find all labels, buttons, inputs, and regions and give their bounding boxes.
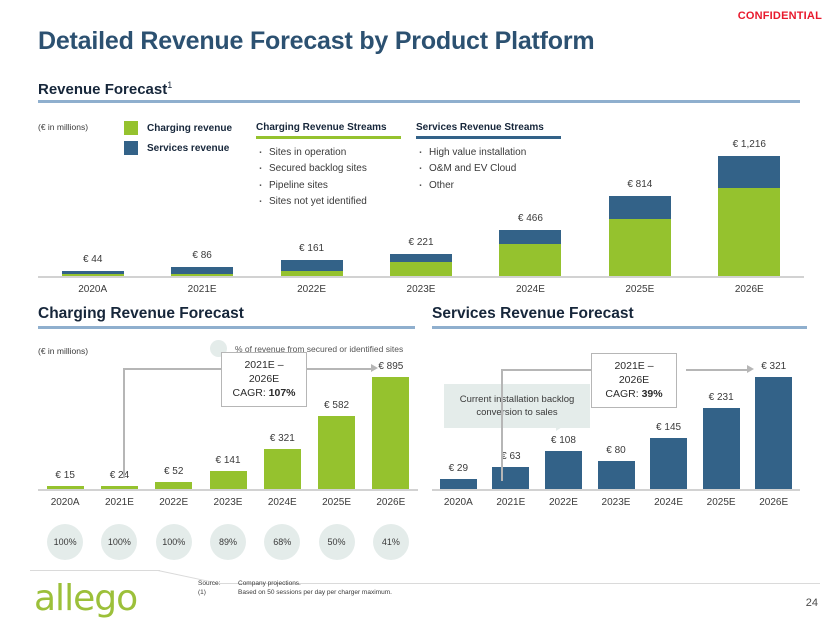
bar-segment-charging bbox=[718, 188, 780, 276]
note-tail-icon bbox=[556, 415, 580, 431]
cagr-leader-vertical bbox=[123, 368, 125, 478]
slide: CONFIDENTIAL Detailed Revenue Forecast b… bbox=[0, 0, 840, 630]
bar-total-label: € 161 bbox=[267, 243, 357, 254]
category-label: 2026E bbox=[356, 497, 426, 508]
category-label: 2025E bbox=[595, 284, 685, 295]
bar bbox=[372, 377, 409, 489]
chart-axis-line bbox=[38, 489, 418, 491]
allego-logo: allego bbox=[34, 578, 137, 619]
cagr-callout-period: 2021E – 2026E bbox=[602, 359, 666, 387]
bar bbox=[650, 438, 687, 489]
page-number: 24 bbox=[806, 597, 818, 609]
section-divider-services bbox=[432, 326, 807, 329]
cagr-leader-vertical bbox=[501, 369, 503, 481]
bar-value-label: € 895 bbox=[356, 361, 426, 372]
secured-pct-badge: 100% bbox=[47, 524, 83, 560]
bar bbox=[155, 482, 192, 489]
bar-total-label: € 814 bbox=[595, 179, 685, 190]
bar-segment-services bbox=[281, 260, 343, 271]
bar-value-label: € 63 bbox=[476, 451, 546, 462]
cagr-callout-period: 2021E – 2026E bbox=[232, 358, 296, 386]
bar-segment-charging bbox=[62, 274, 124, 276]
source-key: Source: bbox=[198, 580, 238, 589]
cagr-arrow-head-icon bbox=[371, 364, 378, 372]
footer-rule-left bbox=[30, 570, 160, 571]
chart-axis-line bbox=[432, 489, 800, 491]
bar-value-label: € 80 bbox=[581, 445, 651, 456]
bar bbox=[318, 416, 355, 489]
bar-value-label: € 145 bbox=[634, 422, 704, 433]
bar-value-label: € 582 bbox=[302, 400, 372, 411]
source-value: Company projections. bbox=[238, 580, 392, 589]
category-label: 2026E bbox=[739, 497, 809, 508]
secured-pct-badge: 100% bbox=[156, 524, 192, 560]
bar-segment-services bbox=[499, 230, 561, 244]
footnote-value: Based on 50 sessions per day per charger… bbox=[238, 589, 392, 598]
page-title: Detailed Revenue Forecast by Product Pla… bbox=[38, 27, 594, 56]
bar-total-label: € 86 bbox=[157, 250, 247, 261]
footnote-marker: 1 bbox=[167, 80, 172, 90]
category-label: 2023E bbox=[376, 284, 466, 295]
chart-axis-line bbox=[38, 276, 804, 278]
section-divider-revenue bbox=[38, 100, 800, 103]
bar bbox=[101, 486, 138, 489]
secured-pct-badge: 41% bbox=[373, 524, 409, 560]
confidential-marking: CONFIDENTIAL bbox=[738, 10, 822, 22]
bar-segment-services bbox=[718, 156, 780, 188]
bar bbox=[598, 461, 635, 489]
secured-pct-badge: 68% bbox=[264, 524, 300, 560]
secured-pct-badge: 89% bbox=[210, 524, 246, 560]
cagr-leader-horizontal-left bbox=[501, 369, 591, 371]
bar-segment-charging bbox=[171, 274, 233, 276]
cagr-callout-value: CAGR: 107% bbox=[232, 386, 296, 400]
footnote-key: (1) bbox=[198, 589, 238, 598]
bar-total-label: € 1,216 bbox=[704, 139, 794, 150]
bar-value-label: € 231 bbox=[686, 392, 756, 403]
category-label: 2020A bbox=[48, 284, 138, 295]
bar bbox=[47, 486, 84, 489]
bar-value-label: € 29 bbox=[423, 463, 493, 474]
bar-segment-charging bbox=[281, 271, 343, 276]
cagr-arrow-head-icon bbox=[747, 365, 754, 373]
category-label: 2024E bbox=[485, 284, 575, 295]
bar-value-label: € 141 bbox=[193, 455, 263, 466]
section-heading-label: Revenue Forecast bbox=[38, 81, 167, 98]
bar-segment-services bbox=[609, 196, 671, 219]
bar-segment-services bbox=[390, 254, 452, 262]
source-notes: Source: Company projections. (1) Based o… bbox=[198, 580, 392, 598]
charging-cagr-callout: 2021E – 2026E CAGR: 107% bbox=[221, 352, 307, 407]
secured-pct-badge: 100% bbox=[101, 524, 137, 560]
section-heading-charging-forecast: Charging Revenue Forecast bbox=[38, 305, 244, 323]
services-cagr-callout: 2021E – 2026E CAGR: 39% bbox=[591, 353, 677, 408]
bar-value-label: € 52 bbox=[139, 466, 209, 477]
bar-total-label: € 44 bbox=[48, 254, 138, 265]
bar-segment-charging bbox=[390, 262, 452, 276]
cagr-leader-horizontal-left bbox=[123, 368, 221, 370]
section-divider-charging bbox=[38, 326, 415, 329]
bar bbox=[210, 471, 247, 489]
bar-value-label: € 321 bbox=[247, 433, 317, 444]
bar-segment-charging bbox=[499, 244, 561, 276]
total-revenue-stacked-bar-chart: € 44€ 86€ 161€ 221€ 466€ 814€ 1,216 2020… bbox=[38, 112, 804, 292]
bar bbox=[264, 449, 301, 489]
category-label: 2026E bbox=[704, 284, 794, 295]
bar bbox=[492, 467, 529, 489]
bar-total-label: € 221 bbox=[376, 237, 466, 248]
cagr-leader-horizontal-right bbox=[306, 368, 372, 370]
services-revenue-bar-chart: € 29€ 63€ 108€ 80€ 145€ 231€ 321 2020A20… bbox=[432, 336, 808, 531]
bar bbox=[545, 451, 582, 489]
cagr-leader-horizontal-right bbox=[686, 369, 748, 371]
category-label: 2022E bbox=[267, 284, 357, 295]
section-heading-services-forecast: Services Revenue Forecast bbox=[432, 305, 634, 323]
bar bbox=[755, 377, 792, 489]
cagr-callout-value: CAGR: 39% bbox=[602, 387, 666, 401]
bar bbox=[440, 479, 477, 489]
bar-total-label: € 466 bbox=[485, 213, 575, 224]
bar bbox=[703, 408, 740, 489]
secured-pct-badge: 50% bbox=[319, 524, 355, 560]
bar-segment-charging bbox=[609, 219, 671, 276]
section-heading-revenue-forecast: Revenue Forecast1 bbox=[38, 80, 172, 98]
category-label: 2021E bbox=[157, 284, 247, 295]
charging-revenue-bar-chart: € 15€ 24€ 52€ 141€ 321€ 582€ 895 2020A20… bbox=[38, 336, 418, 566]
